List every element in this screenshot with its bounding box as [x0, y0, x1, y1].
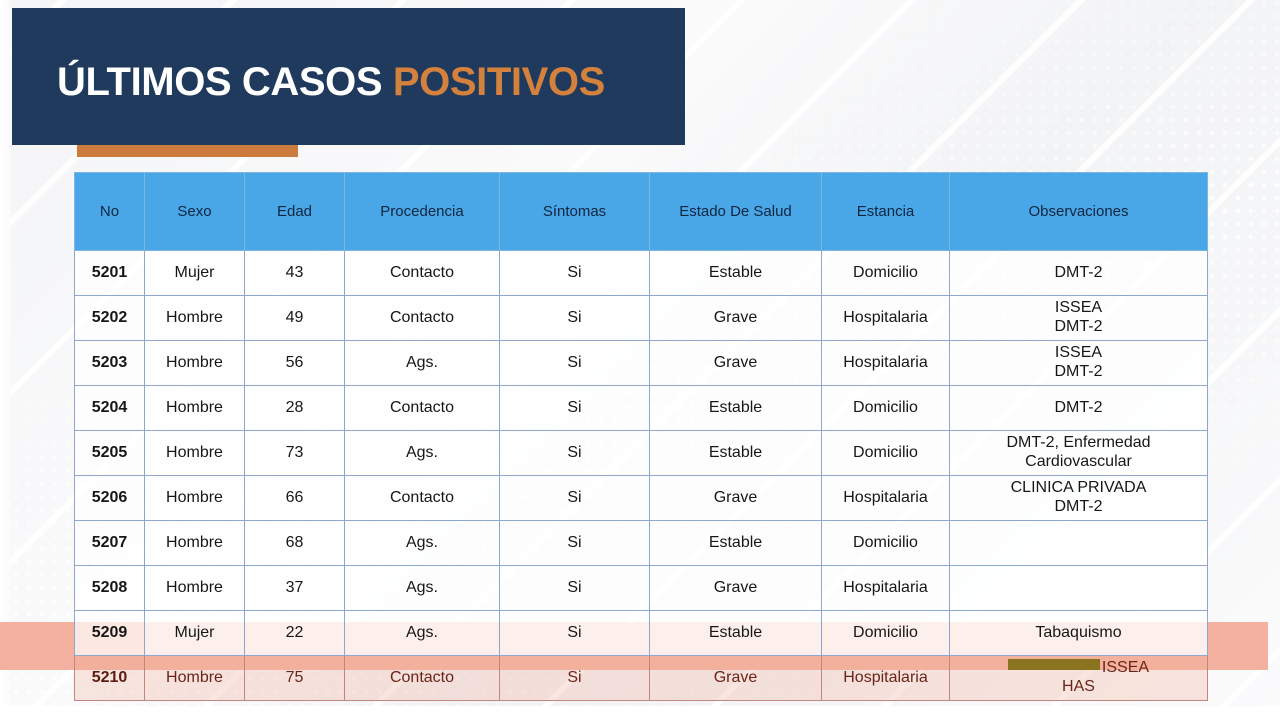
table-cell-sintomas: Si	[500, 431, 650, 476]
background-bottom-edge	[0, 706, 1280, 720]
table-cell-estado: Grave	[650, 341, 822, 386]
observacion-line: Tabaquismo	[954, 624, 1203, 643]
table-cell-estado: Grave	[650, 476, 822, 521]
table-cell-estado: Estable	[650, 251, 822, 296]
table-cell-no: 5205	[75, 431, 145, 476]
table-cell-edad: 56	[245, 341, 345, 386]
table-cell-procedencia: Contacto	[345, 251, 500, 296]
table-cell-edad: 37	[245, 566, 345, 611]
table-cell-observaciones: CLINICA PRIVADADMT-2	[950, 476, 1208, 521]
table-cell-edad: 28	[245, 386, 345, 431]
table-cell-sintomas: Si	[500, 656, 650, 701]
table-cell-edad: 43	[245, 251, 345, 296]
table-cell-procedencia: Contacto	[345, 296, 500, 341]
table-cell-estado: Grave	[650, 296, 822, 341]
observacion-text: ISSEA	[1102, 659, 1149, 676]
table-cell-sexo: Hombre	[145, 431, 245, 476]
table-cell-observaciones: Tabaquismo	[950, 611, 1208, 656]
table-cell-estancia: Hospitalaria	[822, 476, 950, 521]
table-cell-estancia: Hospitalaria	[822, 341, 950, 386]
table-cell-estado: Estable	[650, 611, 822, 656]
table-cell-observaciones: ISSEADMT-2	[950, 341, 1208, 386]
table-cell-no: 5203	[75, 341, 145, 386]
redaction-bar-icon	[1008, 659, 1100, 670]
table-cell-procedencia: Ags.	[345, 566, 500, 611]
table-cell-sintomas: Si	[500, 566, 650, 611]
table-cell-estado: Estable	[650, 521, 822, 566]
table-cell-estancia: Domicilio	[822, 386, 950, 431]
table-row[interactable]: 5208Hombre37Ags.SiGraveHospitalaria	[75, 566, 1208, 611]
table-cell-edad: 22	[245, 611, 345, 656]
table-row[interactable]: 5204Hombre28ContactoSiEstableDomicilioDM…	[75, 386, 1208, 431]
title-underline-accent	[77, 145, 298, 157]
table-cell-sintomas: Si	[500, 296, 650, 341]
table-body: 5201Mujer43ContactoSiEstableDomicilioDMT…	[75, 251, 1208, 701]
table-cell-sexo: Mujer	[145, 251, 245, 296]
observacion-line: ISSEA	[954, 299, 1203, 318]
table-cell-no: 5209	[75, 611, 145, 656]
table-cell-observaciones: DMT-2	[950, 251, 1208, 296]
table-cell-sexo: Hombre	[145, 656, 245, 701]
table-column-header[interactable]: Sexo	[145, 173, 245, 251]
observacion-line: DMT-2	[954, 498, 1203, 517]
table-cell-procedencia: Ags.	[345, 611, 500, 656]
table-cell-observaciones: DMT-2, EnfermedadCardiovascular	[950, 431, 1208, 476]
table-cell-procedencia: Ags.	[345, 431, 500, 476]
table-cell-no: 5208	[75, 566, 145, 611]
table-column-header[interactable]: Observaciones	[950, 173, 1208, 251]
table-column-header[interactable]: Procedencia	[345, 173, 500, 251]
table-row[interactable]: 5206Hombre66ContactoSiGraveHospitalariaC…	[75, 476, 1208, 521]
table-column-header[interactable]: Estancia	[822, 173, 950, 251]
cases-table: NoSexoEdadProcedenciaSíntomasEstado De S…	[74, 172, 1208, 701]
table-cell-no: 5204	[75, 386, 145, 431]
observacion-line: HAS	[954, 678, 1203, 697]
table-cell-no: 5206	[75, 476, 145, 521]
observacion-line: DMT-2, Enfermedad	[954, 434, 1203, 453]
table-cell-procedencia: Ags.	[345, 521, 500, 566]
observacion-line: DMT-2	[954, 318, 1203, 337]
table-cell-estado: Estable	[650, 431, 822, 476]
table-cell-procedencia: Contacto	[345, 386, 500, 431]
table-cell-observaciones	[950, 521, 1208, 566]
observacion-line: DMT-2	[954, 264, 1203, 283]
table-row[interactable]: 5207Hombre68Ags.SiEstableDomicilio	[75, 521, 1208, 566]
table-cell-sexo: Hombre	[145, 341, 245, 386]
cases-table-container: NoSexoEdadProcedenciaSíntomasEstado De S…	[74, 172, 1207, 701]
slide-root: ÚLTIMOS CASOS POSITIVOS NoSexoEdadProced…	[0, 0, 1280, 720]
table-cell-edad: 66	[245, 476, 345, 521]
background-left-edge	[0, 0, 12, 720]
table-cell-edad: 49	[245, 296, 345, 341]
observacion-line: DMT-2	[954, 363, 1203, 382]
observacion-line: ISSEA	[954, 344, 1203, 363]
table-cell-edad: 73	[245, 431, 345, 476]
table-cell-edad: 68	[245, 521, 345, 566]
table-row[interactable]: 5205Hombre73Ags.SiEstableDomicilioDMT-2,…	[75, 431, 1208, 476]
table-cell-procedencia: Contacto	[345, 476, 500, 521]
table-cell-estancia: Hospitalaria	[822, 296, 950, 341]
table-header: NoSexoEdadProcedenciaSíntomasEstado De S…	[75, 173, 1208, 251]
table-cell-edad: 75	[245, 656, 345, 701]
table-cell-no: 5201	[75, 251, 145, 296]
observacion-line: CLINICA PRIVADA	[954, 479, 1203, 498]
table-cell-estancia: Domicilio	[822, 611, 950, 656]
table-cell-sexo: Hombre	[145, 386, 245, 431]
table-cell-estancia: Domicilio	[822, 251, 950, 296]
page-title: ÚLTIMOS CASOS POSITIVOS	[57, 62, 605, 102]
table-column-header[interactable]: No	[75, 173, 145, 251]
table-cell-sexo: Mujer	[145, 611, 245, 656]
table-row[interactable]: 5203Hombre56Ags.SiGraveHospitalariaISSEA…	[75, 341, 1208, 386]
table-cell-sexo: Hombre	[145, 521, 245, 566]
table-column-header[interactable]: Edad	[245, 173, 345, 251]
table-cell-observaciones: ISSEADMT-2	[950, 296, 1208, 341]
table-cell-sintomas: Si	[500, 251, 650, 296]
table-cell-estado: Estable	[650, 386, 822, 431]
observacion-line: ISSEA	[954, 659, 1203, 678]
table-column-header[interactable]: Estado De Salud	[650, 173, 822, 251]
table-cell-estancia: Hospitalaria	[822, 656, 950, 701]
table-row[interactable]: 5201Mujer43ContactoSiEstableDomicilioDMT…	[75, 251, 1208, 296]
page-title-accent: POSITIVOS	[393, 60, 605, 104]
table-cell-estancia: Domicilio	[822, 431, 950, 476]
table-cell-observaciones: ISSEAHAS	[950, 656, 1208, 701]
table-cell-sintomas: Si	[500, 386, 650, 431]
observacion-line: DMT-2	[954, 399, 1203, 418]
table-cell-sexo: Hombre	[145, 476, 245, 521]
table-cell-estado: Grave	[650, 566, 822, 611]
table-header-row: NoSexoEdadProcedenciaSíntomasEstado De S…	[75, 173, 1208, 251]
table-cell-sintomas: Si	[500, 611, 650, 656]
title-banner: ÚLTIMOS CASOS POSITIVOS	[12, 8, 685, 145]
table-cell-no: 5210	[75, 656, 145, 701]
table-cell-sintomas: Si	[500, 341, 650, 386]
table-cell-estado: Grave	[650, 656, 822, 701]
table-cell-estancia: Hospitalaria	[822, 566, 950, 611]
table-cell-observaciones: DMT-2	[950, 386, 1208, 431]
table-cell-procedencia: Contacto	[345, 656, 500, 701]
observacion-line: Cardiovascular	[954, 453, 1203, 472]
table-cell-sintomas: Si	[500, 476, 650, 521]
table-cell-estancia: Domicilio	[822, 521, 950, 566]
table-cell-sexo: Hombre	[145, 296, 245, 341]
table-cell-no: 5207	[75, 521, 145, 566]
page-title-main: ÚLTIMOS CASOS	[57, 60, 382, 104]
table-cell-no: 5202	[75, 296, 145, 341]
table-cell-observaciones	[950, 566, 1208, 611]
table-cell-sintomas: Si	[500, 521, 650, 566]
table-cell-procedencia: Ags.	[345, 341, 500, 386]
table-cell-sexo: Hombre	[145, 566, 245, 611]
table-column-header[interactable]: Síntomas	[500, 173, 650, 251]
table-row[interactable]: 5210Hombre75ContactoSiGraveHospitalariaI…	[75, 656, 1208, 701]
table-row[interactable]: 5202Hombre49ContactoSiGraveHospitalariaI…	[75, 296, 1208, 341]
table-row[interactable]: 5209Mujer22Ags.SiEstableDomicilioTabaqui…	[75, 611, 1208, 656]
